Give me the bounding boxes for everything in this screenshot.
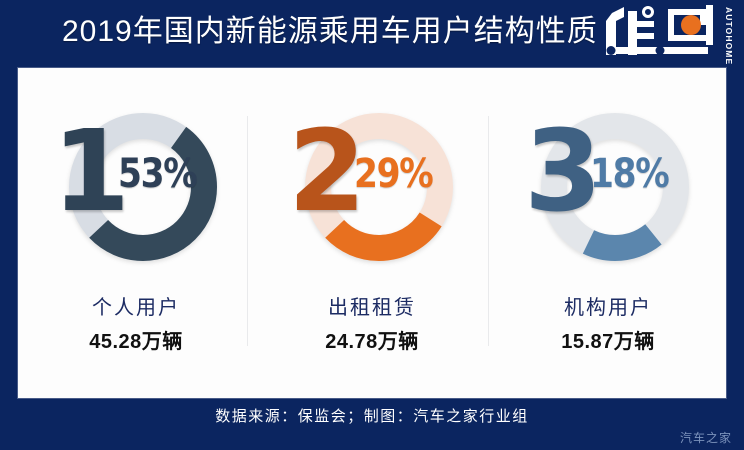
stat-column-institutional: 3 18% 机构用户 15.87万辆 xyxy=(490,68,726,398)
page-title: 2019年国内新能源乘用车用户结构性质 xyxy=(62,8,598,56)
category-name-1: 个人用户 xyxy=(18,296,254,320)
category-name-3: 机构用户 xyxy=(490,296,726,320)
stat-column-individual: 1 53% 个人用户 45.28万辆 xyxy=(18,68,254,398)
donut-chart-3: 3 18% xyxy=(490,102,726,292)
percent-label-2: 29% xyxy=(354,154,432,194)
percent-label-3: 18% xyxy=(590,154,668,194)
rank-number-2: 2 xyxy=(276,116,362,228)
autohome-logo: AUTOHOME xyxy=(602,3,738,65)
autohome-logo-mark xyxy=(602,3,738,65)
content-card: 1 53% 个人用户 45.28万辆 2 29% 出租租赁 24.78万辆 xyxy=(18,68,726,398)
donut-chart-2: 2 29% xyxy=(254,102,490,292)
category-name-2: 出租租赁 xyxy=(254,296,490,320)
watermark-label: 汽车之家 xyxy=(680,429,732,446)
percent-label-1: 53% xyxy=(118,154,196,194)
donut-chart-1: 1 53% xyxy=(18,102,254,292)
category-value-3: 15.87万辆 xyxy=(490,330,726,354)
category-value-2: 24.78万辆 xyxy=(254,330,490,354)
header-bar: 2019年国内新能源乘用车用户结构性质 xyxy=(0,0,744,68)
footer-bar: 数据来源：保监会；制图：汽车之家行业组 汽车之家 xyxy=(0,398,744,450)
category-value-1: 45.28万辆 xyxy=(18,330,254,354)
logo-orange-dot xyxy=(681,15,701,35)
logo-wordmark: AUTOHOME xyxy=(722,7,735,63)
stat-column-rental: 2 29% 出租租赁 24.78万辆 xyxy=(254,68,490,398)
rank-number-1: 1 xyxy=(40,116,126,228)
infographic-poster: 2019年国内新能源乘用车用户结构性质 xyxy=(0,0,744,450)
rank-number-3: 3 xyxy=(512,116,598,228)
source-note: 数据来源：保监会；制图：汽车之家行业组 xyxy=(0,406,744,428)
